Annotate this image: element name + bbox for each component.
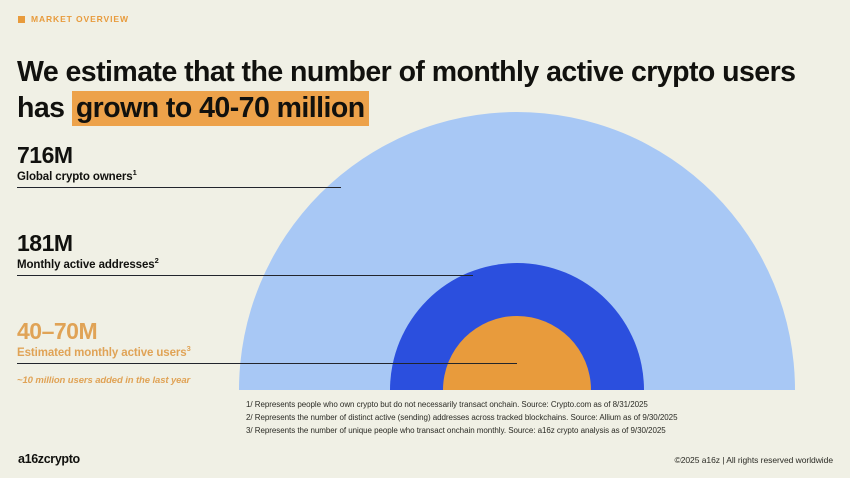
brand-logo: a16zcrypto <box>18 452 80 466</box>
slide-canvas: MARKET OVERVIEW We estimate that the num… <box>0 0 850 478</box>
metric-label: Monthly active addresses2 <box>17 259 159 271</box>
leader-rule-monthly-active-addresses <box>17 275 473 276</box>
footnote-marker: 2 <box>155 256 159 265</box>
semicircle-estimated-monthly-active-users <box>443 316 591 390</box>
metric-subnote: ~10 million users added in the last year <box>17 375 190 386</box>
kicker: MARKET OVERVIEW <box>18 14 129 24</box>
metric-value: 181M <box>17 231 159 255</box>
metric-label: Estimated monthly active users3 <box>17 347 191 359</box>
footnote-marker: 3 <box>187 344 191 353</box>
copyright-notice: ©2025 a16z | All rights reserved worldwi… <box>674 455 833 465</box>
metric-label-text: Global crypto owners <box>17 171 133 183</box>
kicker-label: MARKET OVERVIEW <box>31 14 129 24</box>
footnote-item: 2/ Represents the number of distinct act… <box>246 412 806 425</box>
footnote-item: 1/ Represents people who own crypto but … <box>246 399 806 412</box>
footnote-marker: 1 <box>133 168 137 177</box>
metric-estimated-monthly-active-users: 40–70M Estimated monthly active users3 <box>17 319 191 359</box>
headline-text-highlight: grown to 40-70 million <box>72 91 369 126</box>
metric-label: Global crypto owners1 <box>17 171 137 183</box>
metric-monthly-active-addresses: 181M Monthly active addresses2 <box>17 231 159 271</box>
square-marker-icon <box>18 16 25 23</box>
footnote-item: 3/ Represents the number of unique peopl… <box>246 425 806 438</box>
metric-label-text: Estimated monthly active users <box>17 347 187 359</box>
leader-rule-global-crypto-owners <box>17 187 341 188</box>
metric-value: 40–70M <box>17 319 191 343</box>
metric-label-text: Monthly active addresses <box>17 259 155 271</box>
metric-value: 716M <box>17 143 137 167</box>
semicircle-global-crypto-owners <box>239 112 795 390</box>
leader-rule-estimated-monthly-active-users <box>17 363 517 364</box>
footnotes: 1/ Represents people who own crypto but … <box>246 399 806 438</box>
page-title: We estimate that the number of monthly a… <box>17 55 807 127</box>
semicircle-monthly-active-addresses <box>390 263 644 390</box>
metric-global-crypto-owners: 716M Global crypto owners1 <box>17 143 137 183</box>
